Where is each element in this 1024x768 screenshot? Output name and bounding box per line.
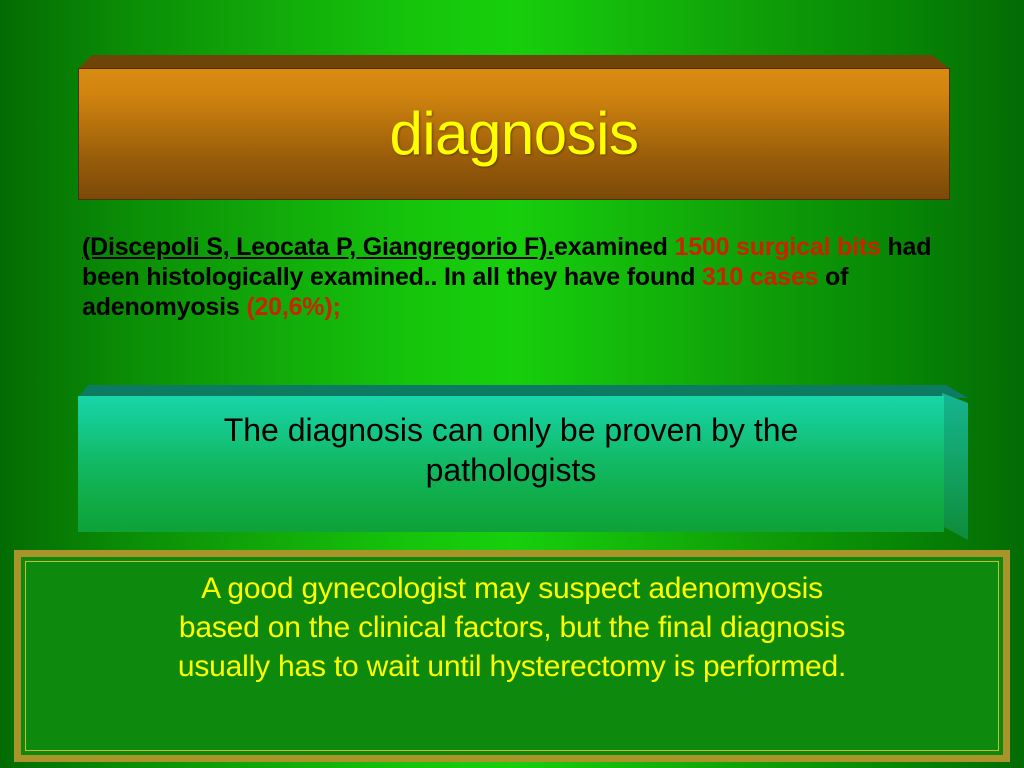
presentation-slide: diagnosis (Discepoli S, Leocata P, Giang… [0, 0, 1024, 768]
teal-callout-box: The diagnosis can only be proven by the … [78, 385, 968, 540]
citation-text: (Discepoli S, Leocata P, Giangregorio F)… [82, 233, 554, 261]
bottom-box-line-1: A good gynecologist may suspect adenomyo… [39, 569, 985, 608]
title-banner-top-bevel [78, 55, 950, 69]
citation-suffix: examined [554, 233, 668, 261]
teal-box-side-bevel [942, 393, 968, 540]
highlight-percentage: (20,6%); [246, 293, 340, 321]
title-banner: diagnosis [78, 55, 950, 200]
teal-box-line-1: The diagnosis can only be proven by the [224, 410, 799, 450]
bottom-box-line-2: based on the clinical factors, but the f… [39, 608, 985, 647]
teal-box-line-2: pathologists [426, 450, 597, 490]
body-segment-3: In all they have found [444, 263, 702, 291]
body-paragraph: (Discepoli S, Leocata P, Giangregorio F)… [82, 232, 962, 322]
bottom-box-line-3: usually has to wait until hysterectomy i… [39, 647, 985, 686]
highlight-sample-count: 1500 surgical bits [675, 233, 881, 261]
page-title: diagnosis [78, 68, 950, 200]
bottom-box-text: A good gynecologist may suspect adenomyo… [21, 557, 1003, 686]
highlight-case-count: 310 cases [702, 263, 818, 291]
teal-box-text: The diagnosis can only be proven by the … [78, 396, 944, 532]
bottom-note-box: A good gynecologist may suspect adenomyo… [14, 550, 1010, 762]
